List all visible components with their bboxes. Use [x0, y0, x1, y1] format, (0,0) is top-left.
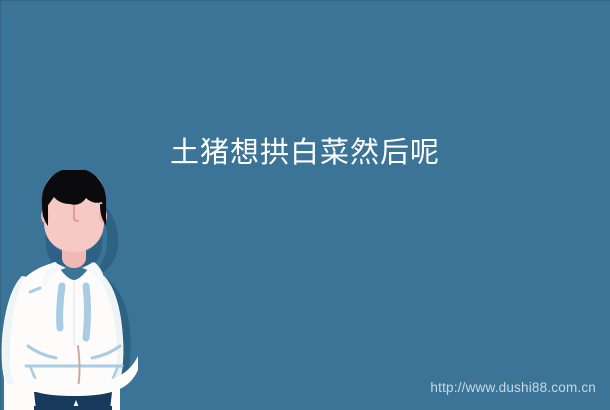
headline-text: 土猪想拱白菜然后呢 [0, 132, 610, 172]
watermark-url: http://www.dushi88.com.cn [430, 380, 596, 396]
drawstring-left [60, 286, 62, 328]
pants-lower [34, 406, 112, 410]
illustration-young-man [0, 170, 150, 410]
image-canvas: 土猪想拱白菜然后呢 http://www.dushi88.com.cn [0, 0, 610, 410]
drawstring-right [86, 286, 88, 338]
